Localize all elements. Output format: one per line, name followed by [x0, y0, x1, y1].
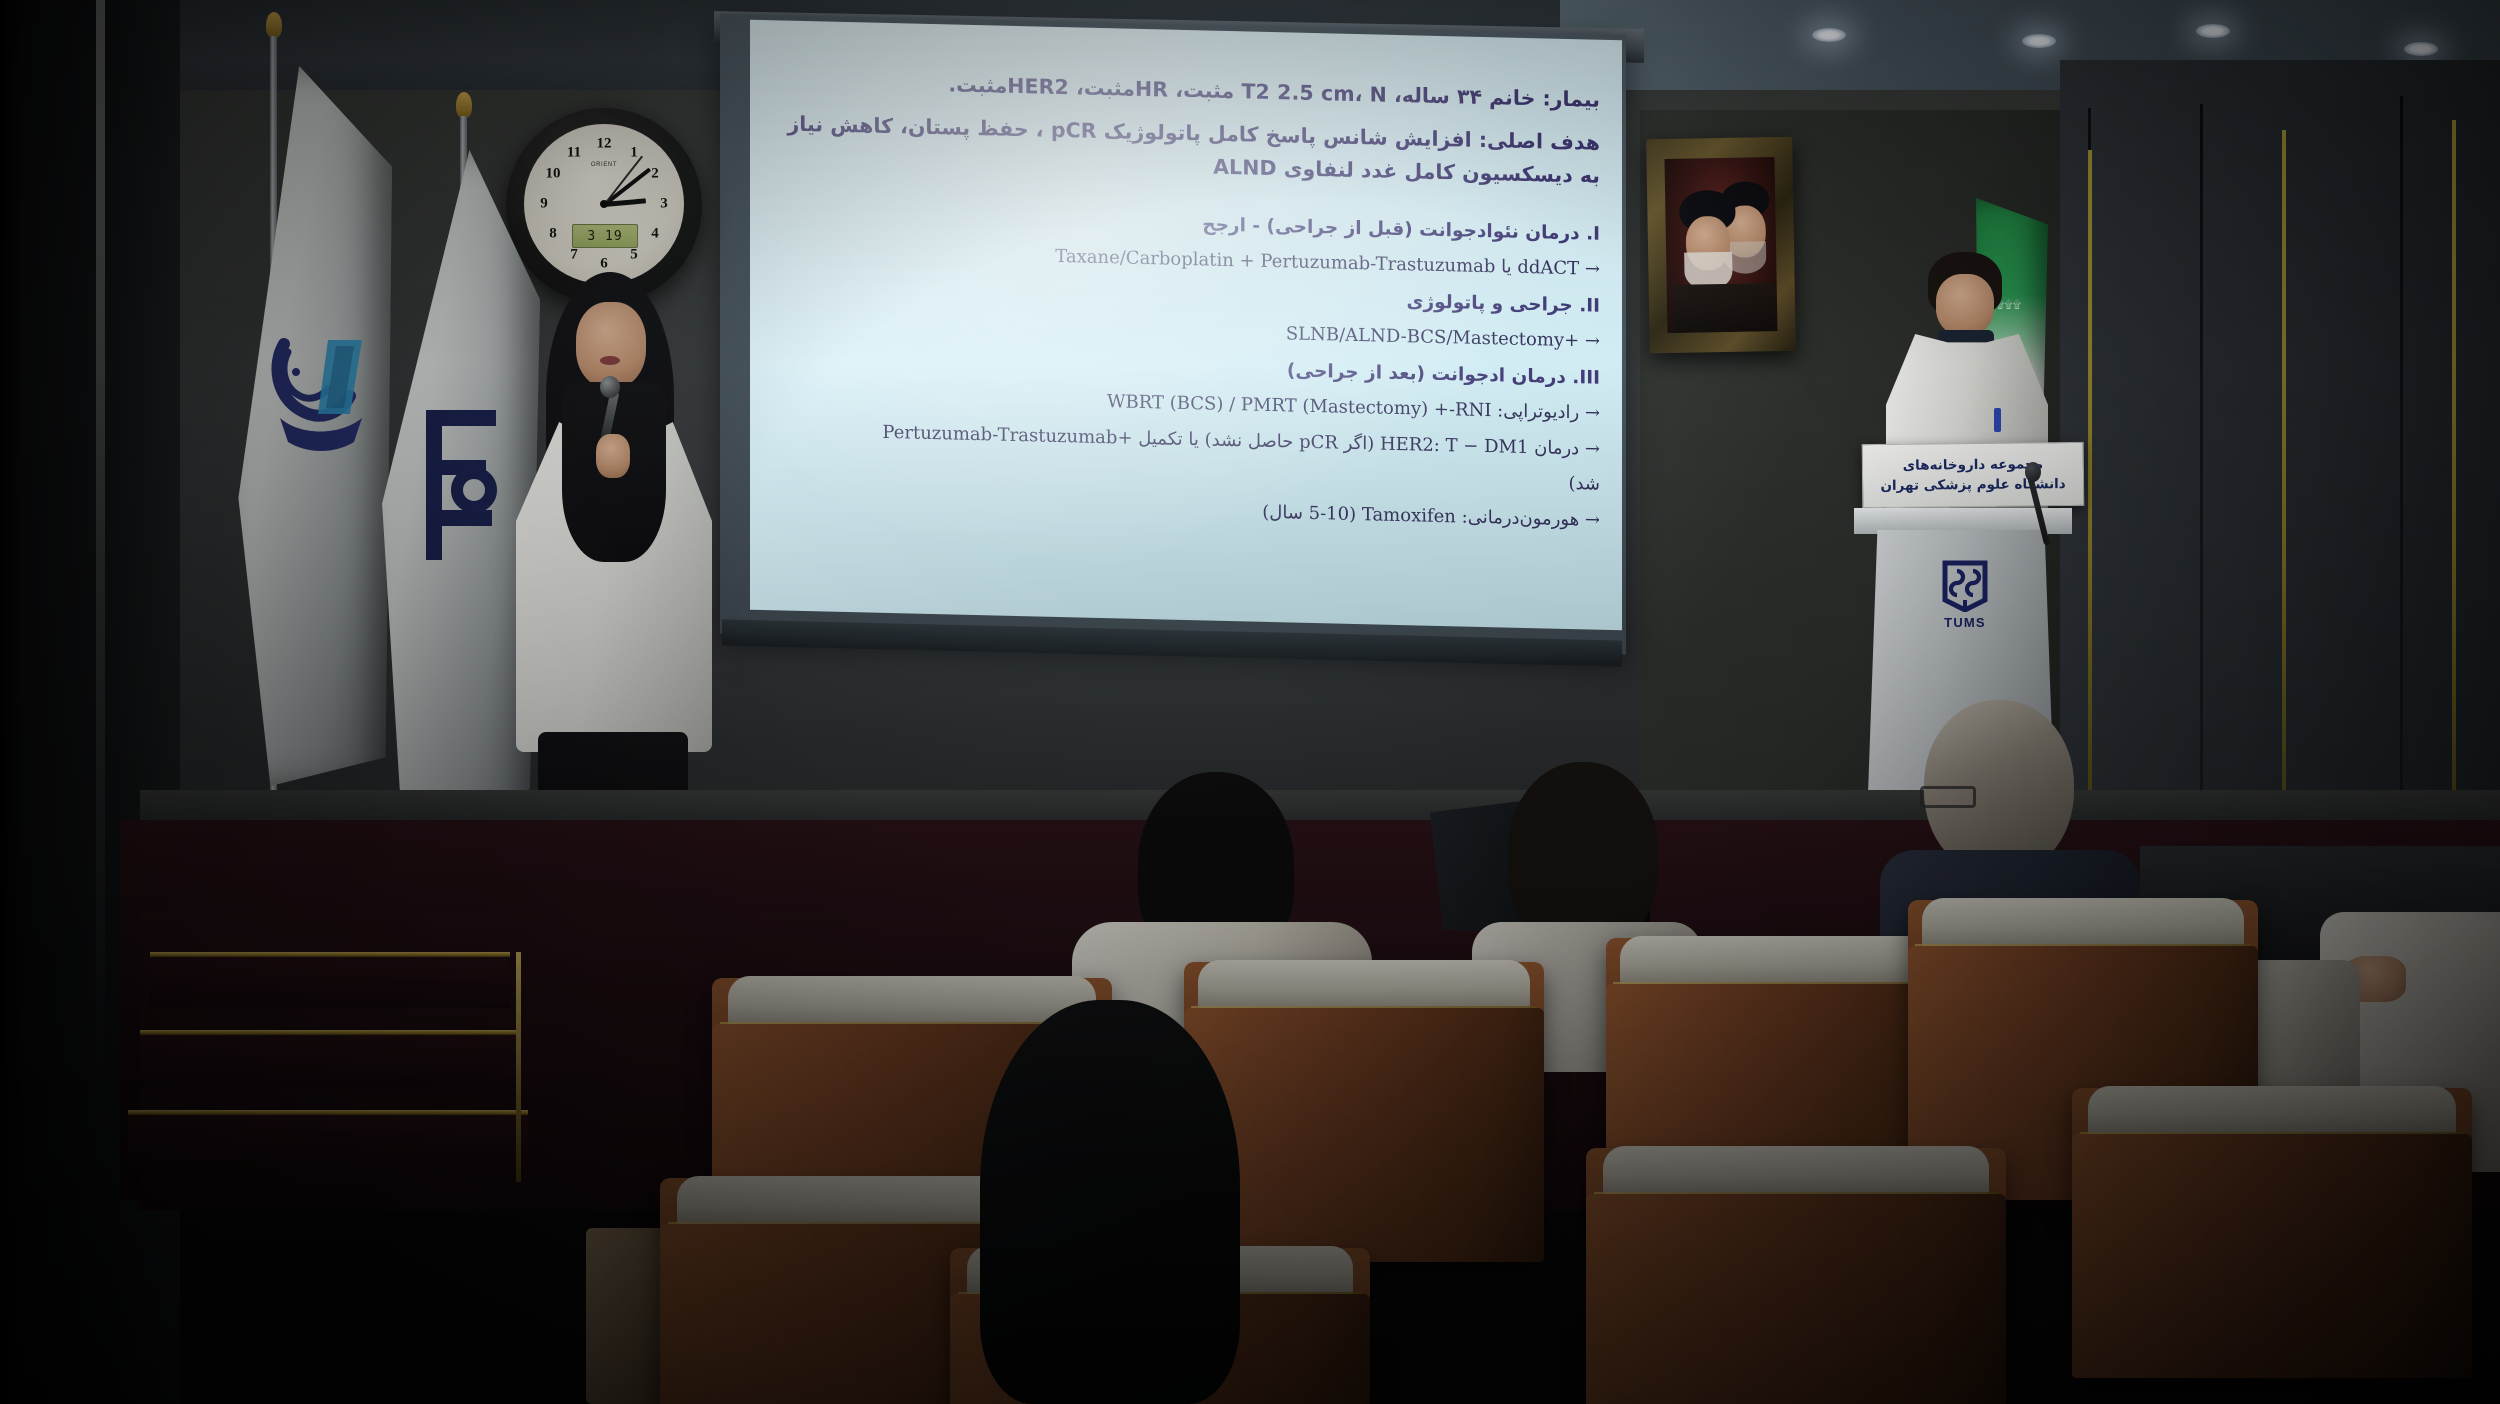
- flag-finial-2: [456, 92, 472, 118]
- ceiling-light-2: [2022, 34, 2056, 48]
- clock-numeral-2: 2: [651, 166, 659, 183]
- seat-headrest: [1922, 898, 2244, 950]
- clock-numeral-6: 6: [600, 256, 608, 273]
- podium-sign: مجموعه داروخانه‌های دانشگاه علوم پزشکی ت…: [1862, 442, 2085, 508]
- stage-step-2-nosing: [140, 1030, 520, 1035]
- ceiling-light-3: [2196, 24, 2230, 38]
- stage-step-3-nosing: [128, 1110, 528, 1115]
- clock-numeral-4: 4: [651, 226, 659, 243]
- slide-content: بیمار: خانم ۳۴ ساله، T2 2.5 cm، N مثبت، …: [768, 64, 1600, 542]
- tums-logo: TUMS: [1934, 560, 1996, 638]
- clock-digital-display: 3 19: [572, 224, 638, 248]
- flag-logo-1: [266, 318, 386, 468]
- clock-numeral-5: 5: [630, 247, 638, 264]
- clock-numeral-9: 9: [540, 196, 548, 213]
- stage-step-2: [140, 1030, 520, 1088]
- stage-side-trim: [516, 952, 521, 1182]
- seat-headrest: [1603, 1146, 1989, 1198]
- audience-person-2-head: [1508, 762, 1658, 946]
- seat-row1-3[interactable]: [1586, 1148, 2006, 1404]
- seat-back: [2072, 1134, 2472, 1378]
- clock-numeral-8: 8: [549, 226, 557, 243]
- ceiling-light-4: [2404, 42, 2438, 56]
- portrait-robe: [1673, 283, 1776, 333]
- podium-microphone-head: [2025, 462, 2041, 482]
- stage-step-1: [150, 952, 510, 1008]
- seat-back: [1586, 1194, 2006, 1404]
- podium-sign-line-1: مجموعه داروخانه‌های: [1903, 454, 2044, 476]
- slide-goal-line: هدف اصلی: افزایش شانس پاسخ کامل پاتولوژی…: [768, 107, 1600, 193]
- framed-portrait: [1646, 137, 1796, 354]
- seat-row1-4[interactable]: [2072, 1088, 2472, 1378]
- clock-numeral-12: 12: [597, 136, 612, 153]
- portrait-image: [1664, 157, 1777, 333]
- tums-book-icon: [1942, 560, 1988, 612]
- audience-person-3-glasses: [1920, 786, 1976, 808]
- clock-hub: [600, 200, 608, 208]
- presenter-hand: [596, 434, 630, 478]
- presenter-microphone-head: [600, 376, 620, 398]
- podium-speaker-pen: [1994, 408, 2001, 432]
- clock-numeral-3: 3: [660, 196, 668, 213]
- clock-brand-label: ORIENT: [591, 162, 617, 168]
- tums-logo-text: TUMS: [1944, 615, 1986, 630]
- audience-foreground-person: [900, 1000, 1330, 1404]
- left-wall-edge: [0, 0, 26, 1404]
- left-wall-light-strip: [96, 0, 105, 1404]
- seat-headrest: [1620, 936, 1951, 988]
- lecture-hall-scene: بیمار: خانم ۳۴ ساله، T2 2.5 cm، N مثبت، …: [0, 0, 2500, 1404]
- stage-step-3: [128, 1110, 528, 1170]
- clock-face: ORIENT 12 1 2 3 4 5 6 7 8 9 10 11 3 19: [524, 124, 684, 284]
- clock-numeral-7: 7: [570, 247, 578, 264]
- audience-foreground-head: [980, 1000, 1240, 1404]
- clock-numeral-1: 1: [630, 145, 638, 162]
- projection-screen: بیمار: خانم ۳۴ ساله، T2 2.5 cm، N مثبت، …: [750, 20, 1622, 631]
- clock-numeral-10: 10: [546, 166, 561, 183]
- podium-speaker-face: [1936, 274, 1994, 336]
- seat-headrest: [2088, 1086, 2456, 1138]
- ceiling-light-1: [1812, 28, 1846, 42]
- stage-step-1-nosing: [150, 952, 510, 957]
- clock-numeral-11: 11: [567, 145, 581, 162]
- slide-patient-line: بیمار: خانم ۳۴ ساله، T2 2.5 cm، N مثبت، …: [768, 64, 1600, 117]
- flag-finial-1: [266, 12, 282, 38]
- presenter-mouth: [600, 356, 620, 365]
